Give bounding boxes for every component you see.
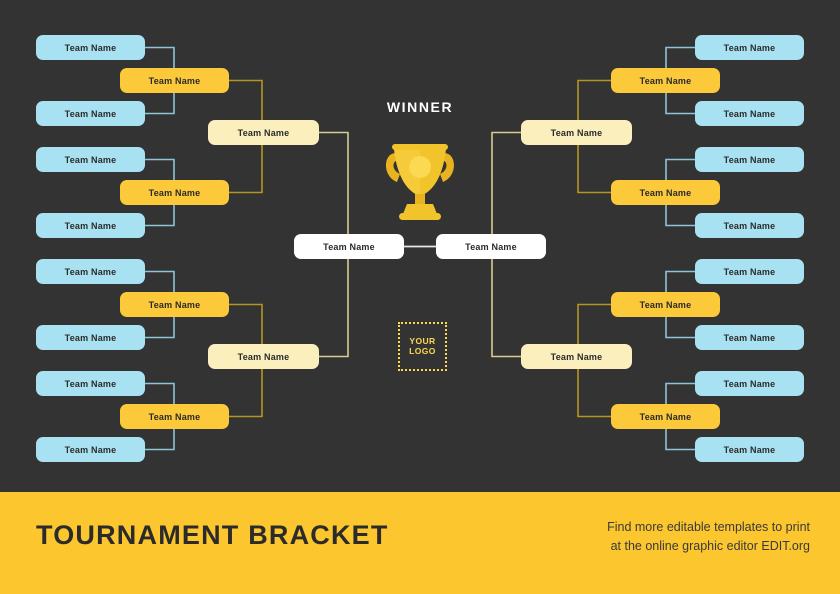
footer-note-line1: Find more editable templates to print (607, 518, 810, 537)
team-box-right-r3-1[interactable]: Team Name (521, 120, 632, 145)
footer-banner: TOURNAMENT BRACKET Find more editable te… (0, 492, 840, 594)
team-box-right-r1-7[interactable]: Team Name (695, 371, 804, 396)
team-box-right-r1-4[interactable]: Team Name (695, 213, 804, 238)
team-box-left-r1-5[interactable]: Team Name (36, 259, 145, 284)
team-box-right-r1-1[interactable]: Team Name (695, 35, 804, 60)
team-box-right-r1-8[interactable]: Team Name (695, 437, 804, 462)
team-box-right-r2-3[interactable]: Team Name (611, 292, 720, 317)
team-box-left-r1-1[interactable]: Team Name (36, 35, 145, 60)
team-box-left-r2-1[interactable]: Team Name (120, 68, 229, 93)
team-box-left-r1-4[interactable]: Team Name (36, 213, 145, 238)
footer-note-line2: at the online graphic editor EDIT.org (607, 537, 810, 556)
tournament-bracket-poster: Team Name Team Name Team Name Team Name … (0, 0, 840, 594)
team-box-right-r1-5[interactable]: Team Name (695, 259, 804, 284)
trophy-icon (381, 126, 459, 224)
team-box-right-r2-4[interactable]: Team Name (611, 404, 720, 429)
team-box-right-r2-2[interactable]: Team Name (611, 180, 720, 205)
team-box-left-r1-3[interactable]: Team Name (36, 147, 145, 172)
team-box-left-r2-3[interactable]: Team Name (120, 292, 229, 317)
team-box-right-r3-2[interactable]: Team Name (521, 344, 632, 369)
footer-title: TOURNAMENT BRACKET (36, 520, 389, 551)
team-box-right-final[interactable]: Team Name (436, 234, 546, 259)
team-box-right-r1-6[interactable]: Team Name (695, 325, 804, 350)
team-box-left-r1-6[interactable]: Team Name (36, 325, 145, 350)
logo-placeholder-line2: LOGO (409, 347, 436, 357)
team-box-left-r1-8[interactable]: Team Name (36, 437, 145, 462)
team-box-left-r1-7[interactable]: Team Name (36, 371, 145, 396)
team-box-left-r3-2[interactable]: Team Name (208, 344, 319, 369)
team-box-right-r2-1[interactable]: Team Name (611, 68, 720, 93)
team-box-left-r3-1[interactable]: Team Name (208, 120, 319, 145)
winner-label: WINNER (0, 99, 840, 115)
team-box-left-final[interactable]: Team Name (294, 234, 404, 259)
footer-note: Find more editable templates to print at… (607, 518, 810, 557)
team-box-left-r2-2[interactable]: Team Name (120, 180, 229, 205)
team-box-left-r2-4[interactable]: Team Name (120, 404, 229, 429)
logo-placeholder[interactable]: YOUR LOGO (398, 322, 447, 371)
team-box-right-r1-3[interactable]: Team Name (695, 147, 804, 172)
